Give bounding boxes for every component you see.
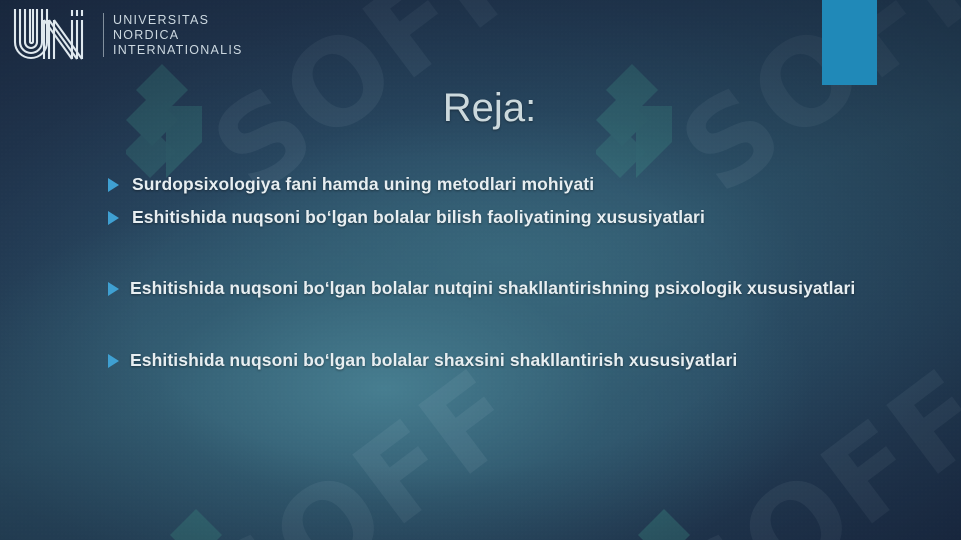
bullet-triangle-icon bbox=[108, 211, 119, 225]
list-item: Surdopsixologiya fani hamda uning metodl… bbox=[108, 172, 883, 197]
bullet-triangle-icon bbox=[108, 354, 119, 368]
uni-monogram-icon bbox=[10, 6, 94, 64]
logo-line-3: INTERNATIONALIS bbox=[113, 43, 243, 57]
list-item: Eshitishida nuqsoni bo‘lgan bolalar bili… bbox=[108, 205, 883, 230]
bullet-triangle-icon bbox=[108, 282, 119, 296]
logo-divider bbox=[103, 13, 104, 57]
soff-logo-mark-icon bbox=[160, 505, 268, 540]
list-item-label: Eshitishida nuqsoni bo‘lgan bolalar nutq… bbox=[130, 276, 855, 301]
logo-line-1: UNIVERSITAS bbox=[113, 13, 243, 27]
accent-block bbox=[822, 0, 877, 85]
list-item-label: Eshitishida nuqsoni bo‘lgan bolalar bili… bbox=[132, 205, 705, 230]
logo-wordmark: UNIVERSITAS NORDICA INTERNATIONALIS bbox=[113, 13, 243, 57]
list-item: Eshitishida nuqsoni bo‘lgan bolalar nutq… bbox=[108, 276, 883, 301]
list-item-label: Surdopsixologiya fani hamda uning metodl… bbox=[132, 172, 594, 197]
list-item: Eshitishida nuqsoni bo‘lgan bolalar shax… bbox=[108, 348, 883, 373]
slide-title: Reja: bbox=[0, 86, 961, 131]
university-logo: UNIVERSITAS NORDICA INTERNATIONALIS bbox=[10, 6, 243, 64]
logo-line-2: NORDICA bbox=[113, 28, 243, 42]
presentation-slide: SOFF SOFF SOFF SOFF bbox=[0, 0, 961, 540]
bullet-list: Surdopsixologiya fani hamda uning metodl… bbox=[108, 172, 883, 373]
soff-logo-mark-icon bbox=[628, 505, 736, 540]
list-item-label: Eshitishida nuqsoni bo‘lgan bolalar shax… bbox=[130, 348, 737, 373]
bullet-triangle-icon bbox=[108, 178, 119, 192]
